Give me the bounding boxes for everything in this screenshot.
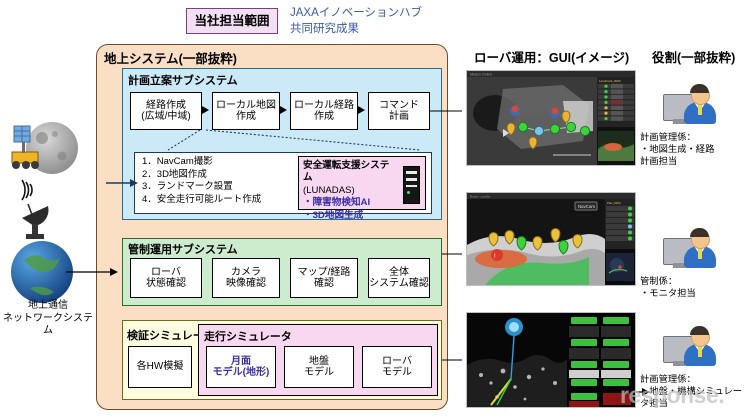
jaxa-note-line1: JAXAイノベーションハブ <box>290 6 490 22</box>
role-line1: 計画管理係： <box>640 131 744 143</box>
arrow-right-icon <box>202 106 212 116</box>
step-item: 1．NavCam撮影 <box>142 156 302 169</box>
box-line2: 計画 <box>389 111 409 122</box>
role-plan-manager-1: 計画管理係： ・地図生成・経路 計画担当 <box>640 84 744 167</box>
control-box-system-check[interactable]: 全体 システム確認 <box>368 258 430 298</box>
network-label-line2: ネットワークシステム <box>2 313 94 338</box>
box-line1: コマンド <box>379 100 419 111</box>
person-icon <box>661 326 723 372</box>
arrow-right-icon <box>280 106 290 116</box>
svg-text:Mission Control: Mission Control <box>470 73 492 77</box>
server-icon <box>403 166 420 204</box>
role-line2: ・モニタ担当 <box>640 287 744 299</box>
planning-box-local-route[interactable]: ローカル経路 作成 <box>290 92 358 130</box>
box-line2: モデル(地形) <box>213 367 270 378</box>
box-line1: 経路作成 <box>146 100 186 111</box>
control-box-camera-view[interactable]: カメラ 映像確認 <box>212 258 280 298</box>
svg-text:Landmark_0000: Landmark_0000 <box>599 79 621 83</box>
driving-simulator-title: 走行シミュレータ <box>204 328 292 344</box>
sim-box-rover-model[interactable]: ローバ モデル <box>362 346 432 388</box>
role-line1: 管制係： <box>640 275 744 287</box>
jaxa-note: JAXAイノベーションハブ 共同研究成果 <box>290 6 490 37</box>
watermark: response. <box>620 382 745 408</box>
role-text: 計画管理係： ・地図生成・経路 計画担当 <box>640 131 744 167</box>
box-line1: マップ/経路 <box>298 267 351 278</box>
jaxa-note-line2: 共同研究成果 <box>290 22 490 38</box>
planning-subsystem-title: 計画立案サブシステム <box>128 72 238 88</box>
navcam-3d-gui-screenshot[interactable]: Rover - LunStx ! NavCam Plan_0000 <box>466 192 636 286</box>
role-section-title: 役割(一部抜粋) <box>652 47 744 66</box>
box-line2: 映像確認 <box>226 278 266 289</box>
simulator-gui-screenshot[interactable] <box>466 312 636 408</box>
role-line3: 計画担当 <box>640 155 744 167</box>
role-line2: ・地図生成・経路 <box>640 143 744 155</box>
role-controller: 管制係： ・モニタ担当 <box>640 228 744 299</box>
box-line1: 各HW模擬 <box>137 361 184 372</box>
box-line1: ローカル地図 <box>216 100 276 111</box>
sim-box-terrain-model[interactable]: 地盤 モデル <box>284 346 354 388</box>
person-icon <box>661 84 723 130</box>
lunadas-line1: 安全運転支援システム <box>303 160 395 185</box>
lunadas-line4: ・3D地図生成 <box>303 210 395 222</box>
svg-text:Rover - LunStx: Rover - LunStx <box>470 195 491 199</box>
sim-box-lunar-model[interactable]: 月面 モデル(地形) <box>206 346 276 388</box>
box-line2: 作成 <box>314 111 334 122</box>
box-line2: 状態確認 <box>146 278 186 289</box>
box-line2: 作成 <box>236 111 256 122</box>
planning-box-command-plan[interactable]: コマンド 計画 <box>368 92 430 130</box>
sim-box-hw-emulation[interactable]: 各HW模擬 <box>128 346 192 388</box>
control-subsystem-title: 管制運用サブシステム <box>128 241 238 257</box>
box-line1: 全体 <box>389 267 409 278</box>
planning-steps-list: 1．NavCam撮影 2．3D地図作成 3．ランドマーク設置 4．安全走行可能ル… <box>142 156 302 207</box>
ground-system-title: 地上システム(一部抜粋) <box>104 48 237 67</box>
box-line2: モデル <box>382 367 412 378</box>
box-line1: 地盤 <box>309 356 329 367</box>
planning-box-local-map[interactable]: ローカル地図 作成 <box>212 92 280 130</box>
rover-map-gui-screenshot[interactable]: Mission Control Landmark_0000 <box>466 70 636 166</box>
arrow-right-icon <box>358 106 368 116</box>
ground-network-label: 地上通信 ネットワークシステム <box>2 300 94 338</box>
box-line1: カメラ <box>231 267 261 278</box>
box-line1: ローカル経路 <box>294 100 354 111</box>
step-item: 3．ランドマーク設置 <box>142 181 302 194</box>
step-item: 4．安全走行可能ルート作成 <box>142 194 302 207</box>
control-box-rover-status[interactable]: ローバ 状態確認 <box>130 258 202 298</box>
box-line2: 確認 <box>314 278 334 289</box>
box-line1: ローバ <box>382 356 412 367</box>
network-label-line1: 地上通信 <box>2 300 94 313</box>
gui-section-title: ローバ運用：GUI(イメージ) <box>474 47 644 66</box>
lunadas-line2: (LUNADAS) <box>303 185 395 197</box>
lunadas-box[interactable]: 安全運転支援システム (LUNADAS) ・障害物検知AI ・3D地図生成 <box>298 156 426 210</box>
svg-text:Plan_0000: Plan_0000 <box>607 201 621 205</box>
step-item: 2．3D地図作成 <box>142 169 302 182</box>
box-line2: モデル <box>304 367 334 378</box>
person-icon <box>661 228 723 274</box>
box-line1: 月面 <box>231 356 251 367</box>
box-line2: システム確認 <box>369 278 429 289</box>
scope-badge: 当社担当範囲 <box>186 8 278 34</box>
box-line1: ローバ <box>151 267 181 278</box>
planning-box-route-creation[interactable]: 経路作成 (広域/中域) <box>130 92 202 130</box>
lunadas-line3: ・障害物検知AI <box>303 197 395 209</box>
svg-text:NavCam: NavCam <box>578 204 595 209</box>
control-box-map-route[interactable]: マップ/経路 確認 <box>290 258 358 298</box>
role-text: 管制係： ・モニタ担当 <box>640 275 744 299</box>
box-line2: (広域/中域) <box>141 111 190 122</box>
